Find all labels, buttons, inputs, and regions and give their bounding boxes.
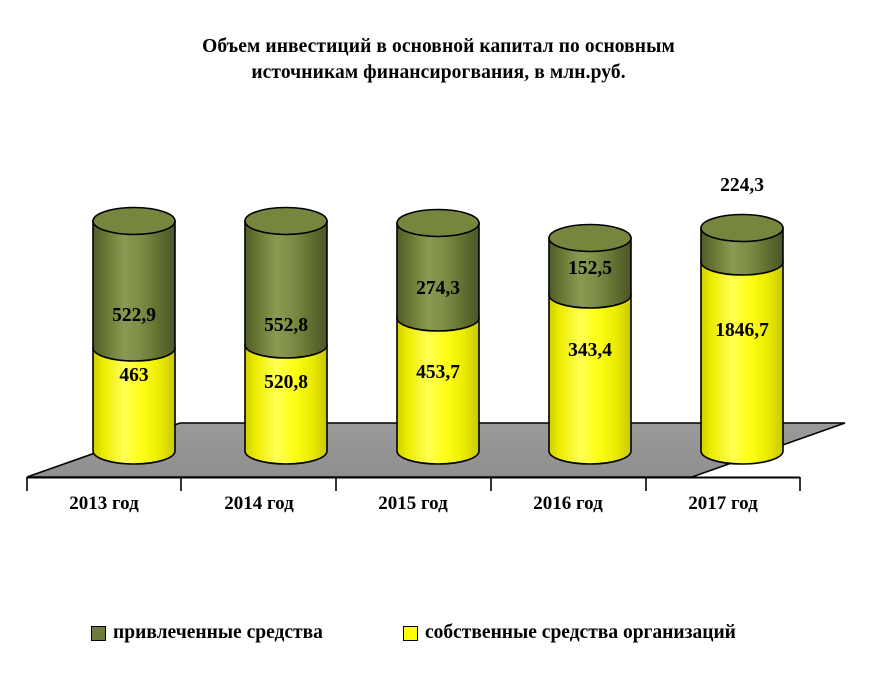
- bar-2013-cap: [93, 208, 175, 235]
- category-label-2014: 2014 год: [184, 493, 334, 515]
- category-label-2016: 2016 год: [493, 493, 643, 515]
- bar-2014-segment-own: [245, 345, 327, 464]
- bar-2013[interactable]: [93, 208, 175, 464]
- legend-item-own[interactable]: собственные средства организаций: [403, 622, 736, 644]
- chart-container: Объем инвестиций в основной капитал по о…: [0, 0, 877, 697]
- chart-graphics: [0, 0, 877, 697]
- legend-swatch-attracted-icon: [91, 626, 106, 641]
- bar-2015-segment-own: [397, 318, 479, 464]
- bar-2015-label-own: 453,7: [383, 362, 493, 384]
- plot-area: 522,9 463 552,8 520,8 274,3 453,7 152,5 …: [0, 0, 877, 697]
- bar-2015-label-attracted: 274,3: [383, 278, 493, 300]
- bar-2014-label-attracted: 552,8: [231, 315, 341, 337]
- category-labels: 2013 год 2014 год 2015 год 2016 год 2017…: [0, 493, 877, 523]
- legend-item-attracted[interactable]: привлеченные средства: [91, 622, 323, 644]
- bar-2013-label-attracted: 522,9: [79, 305, 189, 327]
- bar-2013-label-own: 463: [79, 365, 189, 387]
- legend-swatch-own-icon: [403, 626, 418, 641]
- legend-label-own: собственные средства организаций: [425, 622, 736, 644]
- bar-2015[interactable]: [397, 210, 479, 465]
- bar-2014-segment-attracted: [245, 221, 327, 358]
- bar-2016-label-attracted: 152,5: [535, 258, 645, 280]
- bar-2015-cap: [397, 210, 479, 237]
- legend-label-attracted: привлеченные средства: [113, 622, 323, 644]
- bar-2016-segment-own: [549, 295, 631, 464]
- bar-2016-label-own: 343,4: [535, 340, 645, 362]
- bar-2016-cap: [549, 225, 631, 252]
- bar-2017-cap: [701, 215, 783, 242]
- bar-2017-segment-own: [701, 262, 783, 464]
- bar-2015-segment-attracted: [397, 223, 479, 331]
- category-label-2017: 2017 год: [648, 493, 798, 515]
- bar-2014-label-own: 520,8: [231, 372, 341, 394]
- bar-2013-segment-attracted: [93, 221, 175, 361]
- bar-2017-label-own: 1846,7: [687, 320, 797, 342]
- category-label-2015: 2015 год: [338, 493, 488, 515]
- category-label-2013: 2013 год: [29, 493, 179, 515]
- category-axis-ticks: [27, 477, 800, 491]
- chart-legend: привлеченные средства собственные средст…: [0, 622, 877, 656]
- bar-2017-label-attracted: 224,3: [687, 175, 797, 197]
- bar-2014-cap: [245, 208, 327, 235]
